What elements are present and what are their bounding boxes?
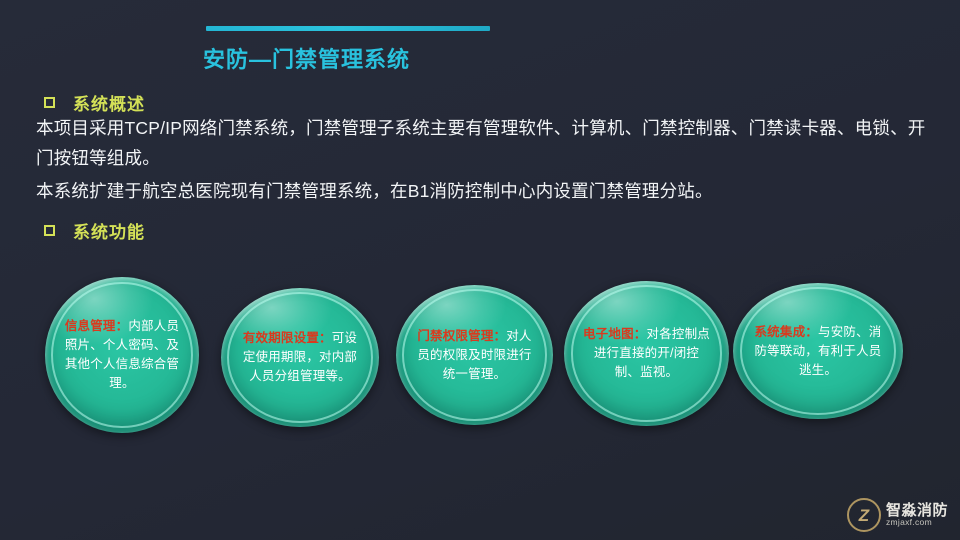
section-heading-features: 系统功能 xyxy=(44,218,145,243)
feature-bubble-text: 信息管理：内部人员照片、个人密码、及其他个人信息综合管理。 xyxy=(62,317,182,393)
feature-bubble[interactable]: 系统集成：与安防、消防等联动，有利于人员逃生。 xyxy=(733,283,903,419)
feature-bubble-text: 电子地图：对各控制点进行直接的开/闭控制、监视。 xyxy=(582,325,711,382)
overview-paragraph-2: 本系统扩建于航空总医院现有门禁管理系统，在B1消防控制中心内设置门禁管理分站。 xyxy=(36,176,936,206)
feature-bubble-text: 有效期限设置：可设定使用期限，对内部人员分组管理等。 xyxy=(238,329,361,386)
overview-paragraph-1: 本项目采用TCP/IP网络门禁系统，门禁管理子系统主要有管理软件、计算机、门禁控… xyxy=(36,113,936,173)
feature-term: 系统集成： xyxy=(754,325,818,339)
square-bullet-icon xyxy=(44,97,55,108)
page-title: 安防—门禁管理系统 xyxy=(203,42,410,74)
feature-term: 有效期限设置： xyxy=(243,331,332,345)
feature-term: 信息管理： xyxy=(65,319,129,333)
watermark-brand-name: 智淼消防 xyxy=(886,503,948,519)
feature-bubble-text: 门禁权限管理：对人员的权限及时限进行统一管理。 xyxy=(413,327,535,384)
feature-bubble[interactable]: 门禁权限管理：对人员的权限及时限进行统一管理。 xyxy=(396,285,553,425)
feature-term: 门禁权限管理： xyxy=(417,329,506,343)
feature-bubble-text: 系统集成：与安防、消防等联动，有利于人员逃生。 xyxy=(752,323,885,380)
feature-term: 电子地图： xyxy=(583,327,647,341)
square-bullet-icon xyxy=(44,225,55,236)
watermark-url: zmjaxf.com xyxy=(886,518,948,527)
watermark-logo: Z 智淼消防 zmjaxf.com xyxy=(847,498,948,532)
title-underline-rule xyxy=(206,26,490,31)
feature-bubble[interactable]: 电子地图：对各控制点进行直接的开/闭控制、监视。 xyxy=(564,281,729,426)
feature-bubble[interactable]: 有效期限设置：可设定使用期限，对内部人员分组管理等。 xyxy=(221,288,379,427)
watermark-text-block: 智淼消防 zmjaxf.com xyxy=(886,503,948,528)
slide-canvas: 安防—门禁管理系统 系统概述 本项目采用TCP/IP网络门禁系统，门禁管理子系统… xyxy=(0,0,960,540)
section-heading-overview: 系统概述 xyxy=(44,90,145,115)
feature-bubble-row: 信息管理：内部人员照片、个人密码、及其他个人信息综合管理。 有效期限设置：可设定… xyxy=(0,0,960,540)
brand-mark-icon: Z xyxy=(847,498,881,532)
section-heading-overview-label: 系统概述 xyxy=(73,90,145,115)
feature-bubble[interactable]: 信息管理：内部人员照片、个人密码、及其他个人信息综合管理。 xyxy=(45,277,199,433)
section-heading-features-label: 系统功能 xyxy=(73,218,145,243)
